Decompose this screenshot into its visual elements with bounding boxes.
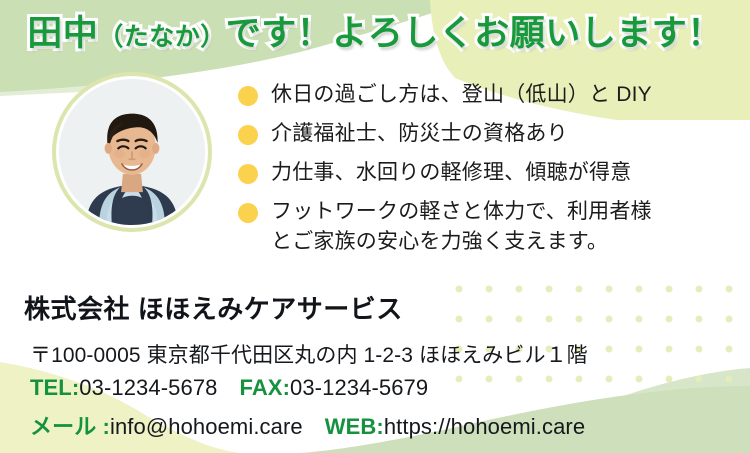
bullet-dot-icon [238, 125, 258, 145]
list-item: 休日の過ごし方は、登山（低山）と DIY [238, 80, 743, 110]
list-item-label: フットワークの軽さと体力で、利用者様 とご家族の安心を力強く支えます。 [271, 197, 652, 257]
list-item: 介護福祉士、防災士の資格あり [238, 119, 743, 149]
contact-line-online: メール :info@hohoemi.careWEB:https://hohoem… [30, 409, 585, 441]
list-item-label: 介護福祉士、防災士の資格あり [271, 119, 568, 149]
page-title: 田中（たなか）です！よろしくお願いします！ [0, 12, 750, 59]
list-item: フットワークの軽さと体力で、利用者様 とご家族の安心を力強く支えます。 [238, 197, 743, 257]
headline-rest: です！よろしくお願いします！ [226, 14, 723, 53]
web-label: WEB: [325, 414, 384, 439]
list-item-line-2: とご家族の安心を力強く支えます。 [271, 230, 608, 253]
bullet-dot-icon [238, 203, 258, 223]
portrait-photo [59, 79, 205, 225]
portrait-illustration [59, 79, 205, 225]
list-item-line-1: フットワークの軽さと体力で、利用者様 [271, 200, 652, 223]
list-item-label: 休日の過ごし方は、登山（低山）と DIY [271, 80, 652, 110]
right-edge-green-curve [600, 368, 750, 404]
list-item: 力仕事、水回りの軽修理、傾聴が得意 [238, 158, 743, 188]
bullet-dot-icon [238, 86, 258, 106]
company-address: 〒100-0005 東京都千代田区丸の内 1-2-3 ほほえみビル１階 [30, 339, 588, 369]
highlights-list: 休日の過ごし方は、登山（低山）と DIY 介護福祉士、防災士の資格あり 力仕事、… [238, 80, 743, 266]
fax-label: FAX: [240, 375, 291, 400]
tel-label: TEL: [30, 375, 79, 400]
headline-furigana: （たなか） [98, 23, 226, 51]
polka-dot-pattern [440, 268, 750, 403]
company-name: 株式会社 ほほえみケアサービス [24, 289, 403, 326]
list-item-label: 力仕事、水回りの軽修理、傾聴が得意 [271, 158, 631, 188]
mail-value[interactable]: info@hohoemi.care [110, 414, 303, 439]
tel-value[interactable]: 03-1234-5678 [79, 375, 217, 400]
web-value[interactable]: https://hohoemi.care [384, 414, 585, 439]
headline-name: 田中 [27, 14, 98, 53]
mail-label: メール : [30, 414, 110, 439]
business-card-banner: 田中（たなか）です！よろしくお願いします！ [0, 0, 750, 453]
fax-value: 03-1234-5679 [290, 375, 428, 400]
avatar [52, 72, 212, 232]
bullet-dot-icon [238, 164, 258, 184]
contact-line-phone: TEL:03-1234-5678FAX:03-1234-5679 [30, 375, 428, 401]
